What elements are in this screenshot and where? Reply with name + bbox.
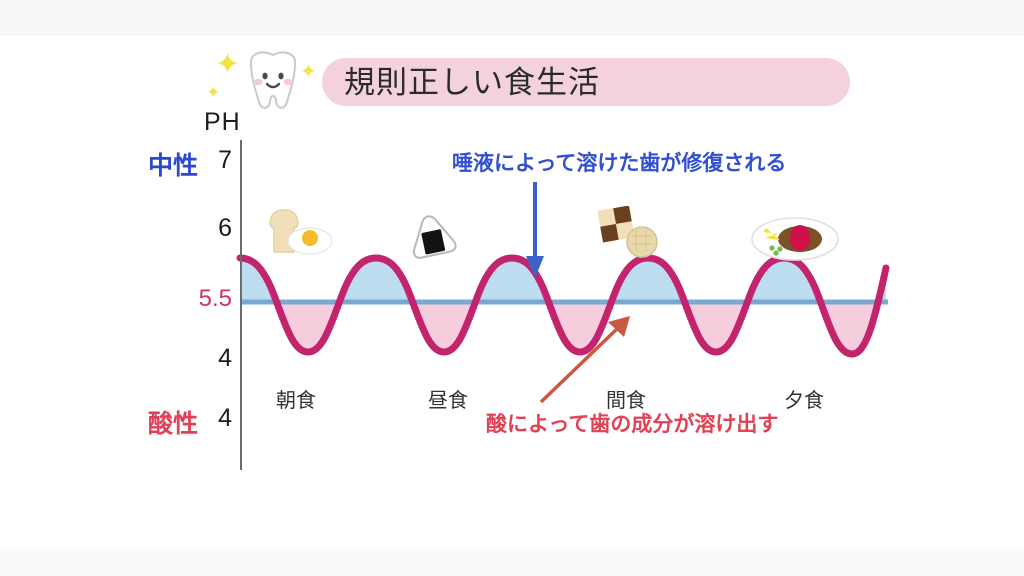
dinner-plate-icon [750,216,840,262]
neutral-zone-label: 中性 [148,146,198,182]
y-tick-label-6: 6 [172,214,232,243]
meal-label-dinner: 夕食 [784,384,824,413]
y-axis-caption: PH [204,108,241,137]
slide-canvas: 規則正しい食生活 ✦ ✦ ✦ [0,0,1024,576]
annotation-saliva: 唾液によって溶けた歯が修復される [452,147,786,177]
acid-zone-label: 酸性 [148,404,198,440]
cookies-icon [596,206,664,258]
y-tick-label-5-5: 5.5 [162,285,232,313]
annotation-acid: 酸によって歯の成分が溶け出す [486,408,778,438]
meal-label-breakfast: 朝食 [276,384,316,413]
meal-label-lunch: 昼食 [428,384,468,413]
onigiri-icon [404,212,460,260]
y-axis-line [240,140,242,470]
y-tick-label-4-upper: 4 [172,344,232,373]
bread-and-egg-icon [262,208,338,256]
ph-curve-chart: PH 7 6 5.5 4 4 中性 酸性 朝食 昼食 間食 夕食 唾液によって溶… [0,0,1024,576]
